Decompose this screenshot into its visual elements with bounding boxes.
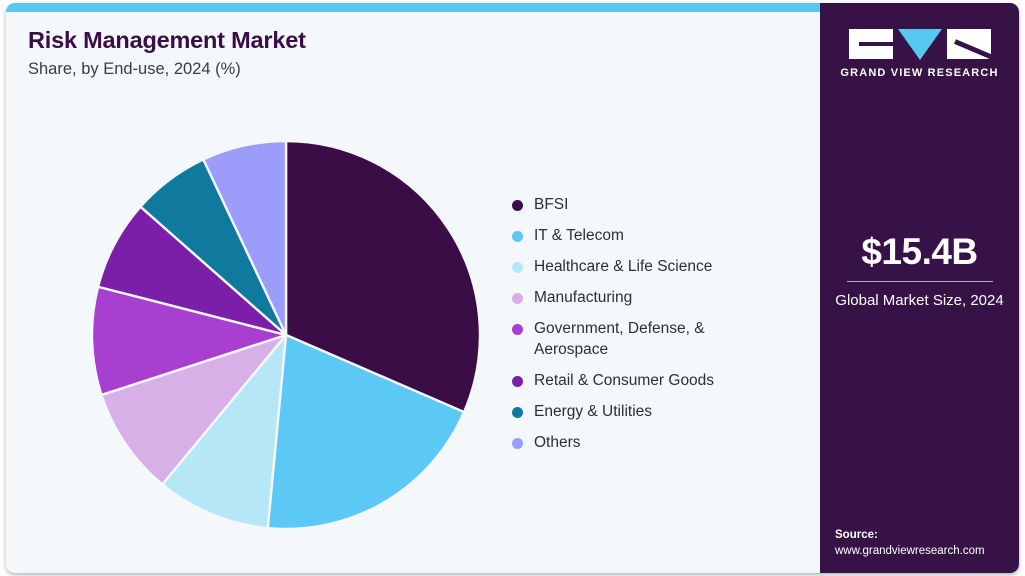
- pie-slice-group: [92, 141, 480, 529]
- page-subtitle: Share, by End-use, 2024 (%): [28, 57, 728, 81]
- legend-color-swatch-icon: [512, 293, 523, 304]
- legend-item[interactable]: Others: [512, 433, 812, 454]
- top-accent-bar: [6, 3, 820, 12]
- logo-marks: [820, 29, 1019, 59]
- brand-panel: GRAND VIEW RESEARCH $15.4B Global Market…: [820, 3, 1019, 573]
- legend-color-swatch-icon: [512, 200, 523, 211]
- source-label: Source:: [835, 527, 1015, 543]
- logo-g-icon: [849, 29, 893, 59]
- chart-panel: Risk Management Market Share, by End-use…: [6, 3, 820, 573]
- infographic-card: Risk Management Market Share, by End-use…: [6, 3, 1019, 573]
- legend-item[interactable]: BFSI: [512, 195, 812, 216]
- legend-item-label: BFSI: [534, 195, 568, 216]
- source-url: www.grandviewresearch.com: [835, 543, 1015, 559]
- legend-item[interactable]: Manufacturing: [512, 288, 812, 309]
- legend-color-swatch-icon: [512, 407, 523, 418]
- legend-item-label: Government, Defense, & Aerospace: [534, 319, 749, 360]
- market-size-stat: $15.4B Global Market Size, 2024: [820, 231, 1019, 311]
- legend-item-label: Others: [534, 433, 581, 454]
- legend-item-label: Manufacturing: [534, 288, 632, 309]
- legend-item-label: Retail & Consumer Goods: [534, 371, 714, 392]
- logo-v-triangle-icon: [898, 29, 942, 60]
- legend-item-label: IT & Telecom: [534, 226, 624, 247]
- legend-item[interactable]: Healthcare & Life Science: [512, 257, 812, 278]
- legend-color-swatch-icon: [512, 376, 523, 387]
- chart-legend: BFSIIT & TelecomHealthcare & Life Scienc…: [512, 195, 812, 464]
- legend-item[interactable]: Energy & Utilities: [512, 402, 812, 423]
- source-block: Source: www.grandviewresearch.com: [835, 527, 1015, 559]
- title-block: Risk Management Market Share, by End-use…: [28, 25, 728, 81]
- screenshot-canvas: Risk Management Market Share, by End-use…: [0, 0, 1025, 576]
- logo-r-icon: [947, 29, 991, 59]
- legend-color-swatch-icon: [512, 324, 523, 335]
- brand-logo: GRAND VIEW RESEARCH: [820, 29, 1019, 79]
- pie-chart-svg: [91, 140, 481, 530]
- legend-color-swatch-icon: [512, 262, 523, 273]
- legend-item[interactable]: Government, Defense, & Aerospace: [512, 319, 812, 360]
- legend-item-label: Healthcare & Life Science: [534, 257, 712, 278]
- pie-chart: [91, 140, 481, 530]
- logo-wordmark: GRAND VIEW RESEARCH: [820, 67, 1019, 79]
- legend-color-swatch-icon: [512, 231, 523, 242]
- legend-item-label: Energy & Utilities: [534, 402, 652, 423]
- legend-item[interactable]: Retail & Consumer Goods: [512, 371, 812, 392]
- stat-value: $15.4B: [820, 231, 1019, 273]
- stat-caption: Global Market Size, 2024: [820, 291, 1019, 311]
- legend-item[interactable]: IT & Telecom: [512, 226, 812, 247]
- stat-divider: [847, 281, 993, 282]
- page-title: Risk Management Market: [28, 25, 728, 55]
- legend-color-swatch-icon: [512, 438, 523, 449]
